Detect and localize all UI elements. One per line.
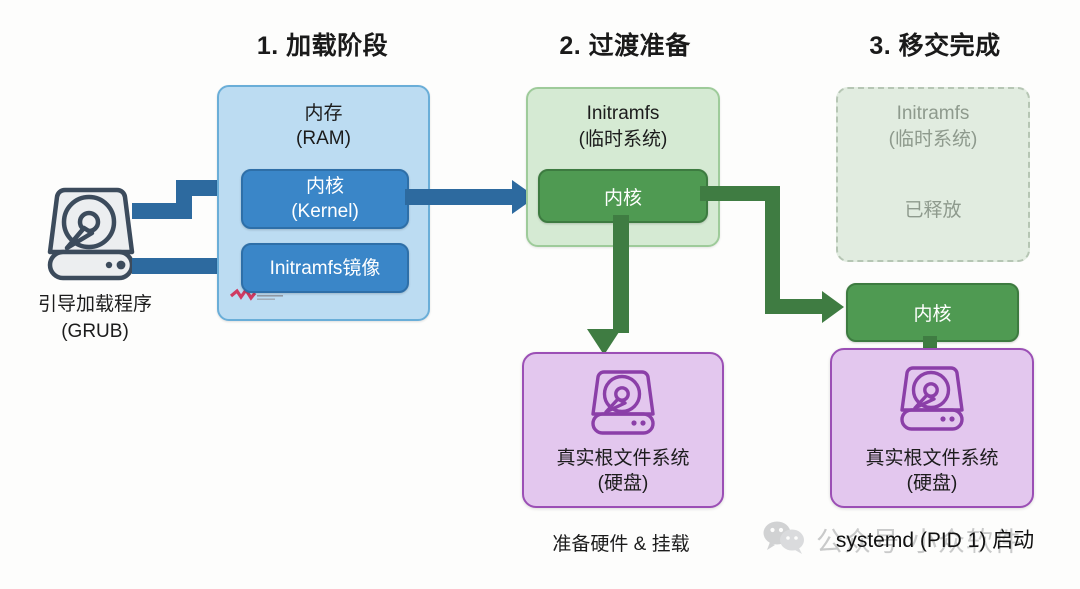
grub-caption: 引导加载程序 (GRUB) (0, 291, 190, 345)
ram-to-initramfs-arrow-bar (405, 189, 516, 205)
grub-hard-disk-icon (37, 180, 145, 293)
diagram-canvas: 1. 加载阶段 2. 过渡准备 3. 移交完成 引导加载程序 (GRUB) 内存… (0, 0, 1080, 589)
handover-arrowhead (822, 291, 844, 323)
handover-elbow-seg3 (765, 299, 827, 314)
grub-to-initramfs-arrow-bar (132, 258, 222, 274)
rootfs-block-stage3: 真实根文件系统 (硬盘) (830, 348, 1034, 508)
rootfs-hard-disk-icon-stage3 (893, 362, 971, 441)
released-initramfs-title: Initramfs (临时系统) (838, 101, 1028, 153)
grub-caption-line1: 引导加载程序 (0, 291, 190, 318)
rootfs-label-stage2-line2: (硬盘) (524, 471, 722, 496)
rootfs-label-stage3-line2: (硬盘) (832, 471, 1032, 496)
ram-title-line1: 内存 (219, 101, 428, 126)
final-kernel-label: 内核 (913, 299, 951, 326)
grub-to-kernel-arrow-seg3 (176, 180, 222, 196)
released-status-label: 已释放 (838, 195, 1028, 222)
stage2-caption: 准备硬件 & 挂载 (521, 529, 721, 556)
initramfs-title: Initramfs (临时系统) (528, 101, 718, 153)
released-title-line2: (临时系统) (838, 127, 1028, 153)
final-kernel-block: 内核 (846, 283, 1019, 342)
rootfs-label-stage3: 真实根文件系统 (硬盘) (832, 446, 1032, 496)
stage-3-title: 3. 移交完成 (820, 26, 1050, 62)
initramfs-title-line1: Initramfs (528, 101, 718, 127)
ram-kernel-block: 内核 (Kernel) (241, 169, 409, 229)
ram-kernel-line1: 内核 (306, 174, 344, 199)
stage-1-title: 1. 加载阶段 (205, 26, 440, 62)
initramfs-title-line2: (临时系统) (528, 127, 718, 153)
released-initramfs-container: Initramfs (临时系统) 已释放 (836, 87, 1030, 262)
stage3-caption: systemd (PID 1) 启动 (790, 524, 1080, 554)
ram-title-line2: (RAM) (219, 126, 428, 151)
ram-initramfs-image-block: Initramfs镜像 (241, 243, 409, 293)
rootfs-block-stage2: 真实根文件系统 (硬盘) (522, 352, 724, 508)
rootfs-label-stage2-line1: 真实根文件系统 (524, 446, 722, 471)
ram-initramfs-image-label: Initramfs镜像 (270, 256, 381, 281)
rootfs-label-stage3-line1: 真实根文件系统 (832, 446, 1032, 471)
grub-caption-line2: (GRUB) (0, 318, 190, 345)
initramfs-kernel-label: 内核 (604, 183, 642, 210)
ram-title: 内存 (RAM) (219, 101, 428, 151)
ram-kernel-line2: (Kernel) (291, 199, 359, 224)
released-title-line1: Initramfs (838, 101, 1028, 127)
handover-elbow-seg2 (765, 186, 780, 314)
rootfs-label-stage2: 真实根文件系统 (硬盘) (524, 446, 722, 496)
rootfs-hard-disk-icon-stage2 (584, 366, 662, 445)
stage-2-title: 2. 过渡准备 (510, 26, 740, 62)
kernel-to-rootfs-down-bar (613, 215, 629, 333)
